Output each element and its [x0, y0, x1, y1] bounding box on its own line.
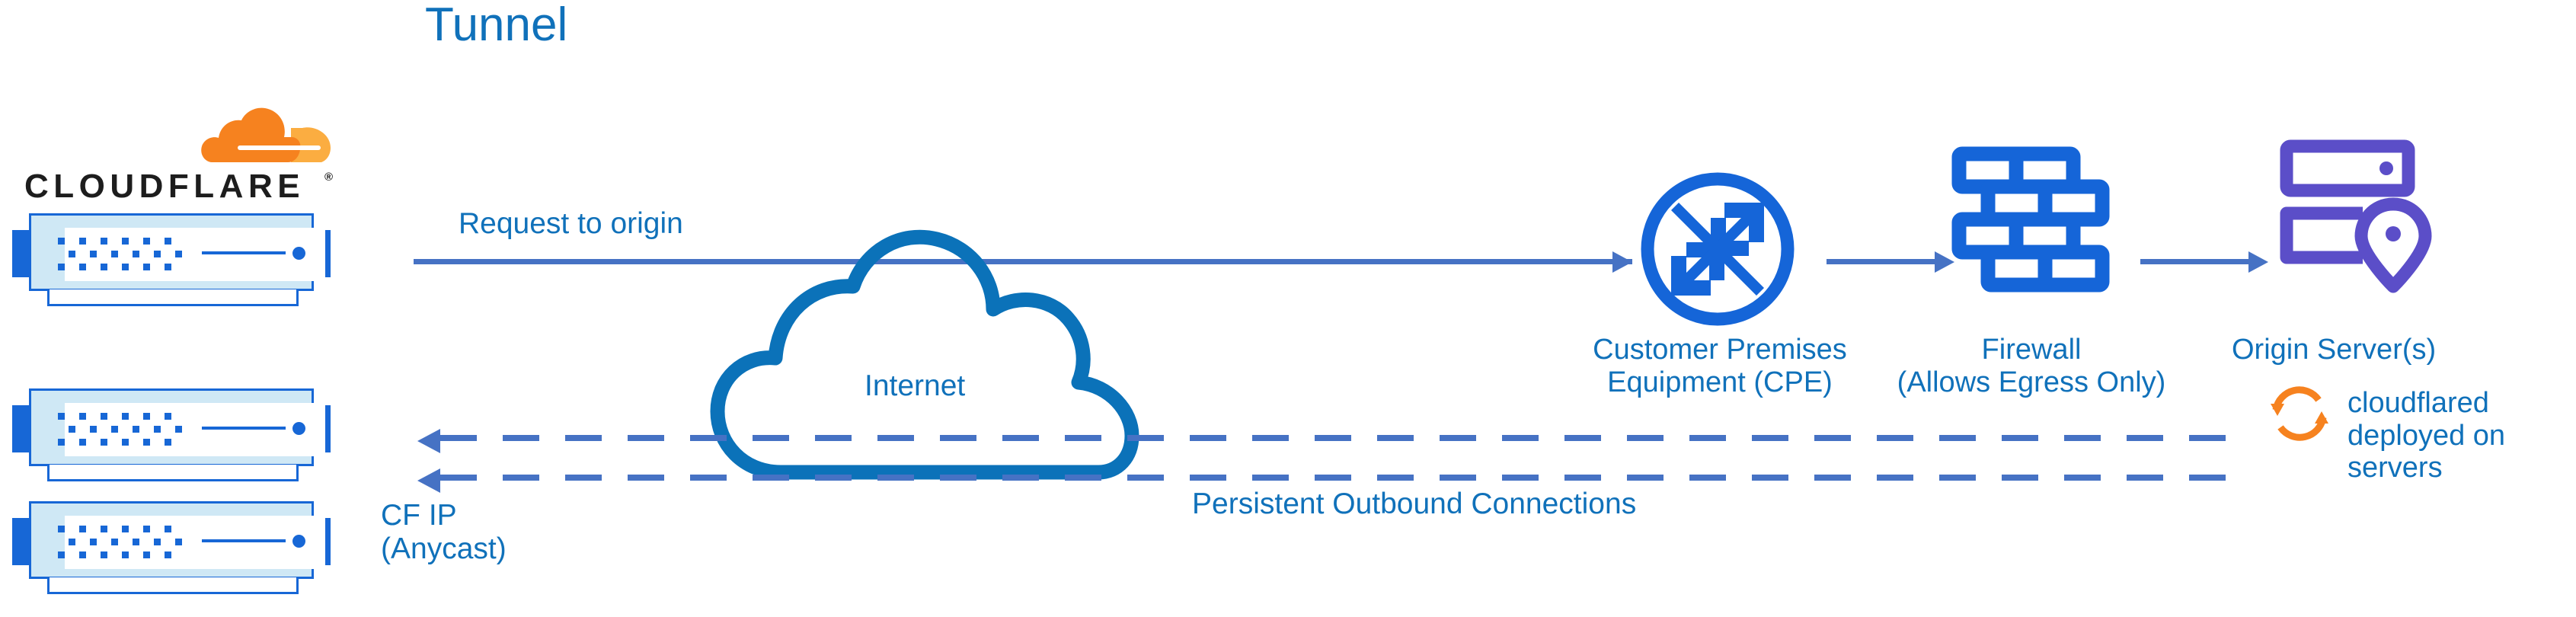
server-base [47, 289, 299, 306]
server-base [47, 577, 299, 594]
circular-sync-arrows-icon [2267, 381, 2332, 446]
persistent-flow-line-top [440, 435, 2249, 441]
firewall-label-line2: (Allows Egress Only) [1897, 366, 2166, 398]
request-to-origin-label: Request to origin [459, 207, 683, 241]
firewall-to-origin-line [2140, 259, 2252, 264]
persistent-outbound-connections-label: Persistent Outbound Connections [1192, 488, 1636, 521]
request-flow-arrowhead [1612, 251, 1632, 273]
server-with-location-pin-icon [2277, 139, 2445, 299]
server-status-line [202, 427, 286, 430]
server-status-line [202, 251, 286, 254]
cloudflare-wordmark: CLOUDFLARE [24, 168, 305, 206]
persistent-flow-line-bottom [440, 475, 2249, 481]
cloudflared-label-line2: deployed on [2347, 420, 2505, 452]
server-status-dot [292, 247, 305, 260]
cpe-label-line2: Equipment (CPE) [1607, 366, 1833, 398]
cpe-label: Customer PremisesEquipment (CPE) [1556, 334, 1884, 398]
server-face [65, 228, 325, 281]
converging-arrows-circle-icon [1638, 169, 1798, 329]
origin-server-label: Origin Server(s) [2232, 334, 2552, 366]
cpe-label-line1: Customer Premises [1593, 334, 1847, 366]
firewall-label: Firewall(Allows Egress Only) [1868, 334, 2195, 398]
cf-ip-label-line2: (Anycast) [381, 532, 507, 565]
brick-wall-icon [1951, 145, 2111, 305]
cloudflare-cloud-logo-icon [184, 107, 337, 164]
server-face [65, 403, 325, 456]
persistent-flow-arrowhead-bottom [417, 468, 440, 493]
cloudflared-label-line3: servers [2347, 452, 2443, 484]
firewall-label-line1: Firewall [1982, 334, 2082, 366]
server-rack-icon [8, 501, 335, 597]
internet-label: Internet [865, 369, 965, 403]
internet-cloud-icon [708, 229, 1181, 488]
cpe-to-firewall-line [1827, 259, 1938, 264]
server-status-line [202, 539, 286, 542]
server-face [65, 516, 325, 569]
cf-ip-anycast-label: CF IP(Anycast) [381, 499, 507, 565]
server-status-dot [292, 535, 305, 548]
firewall-to-origin-arrowhead [2248, 251, 2268, 273]
persistent-flow-arrowhead-top [417, 429, 440, 453]
cloudflared-label-line1: cloudflared [2347, 387, 2489, 419]
server-base [47, 465, 299, 481]
server-rack-icon [8, 213, 335, 309]
server-rack-icon [8, 388, 335, 484]
server-status-dot [292, 422, 305, 435]
page-title: Tunnel [425, 0, 567, 51]
registered-trademark-mark: ® [324, 171, 333, 184]
cloudflared-label: cloudflareddeployed onservers [2347, 387, 2561, 484]
cloudflare-logo: CLOUDFLARE ® [17, 107, 337, 213]
cf-ip-label-line1: CF IP [381, 499, 457, 532]
